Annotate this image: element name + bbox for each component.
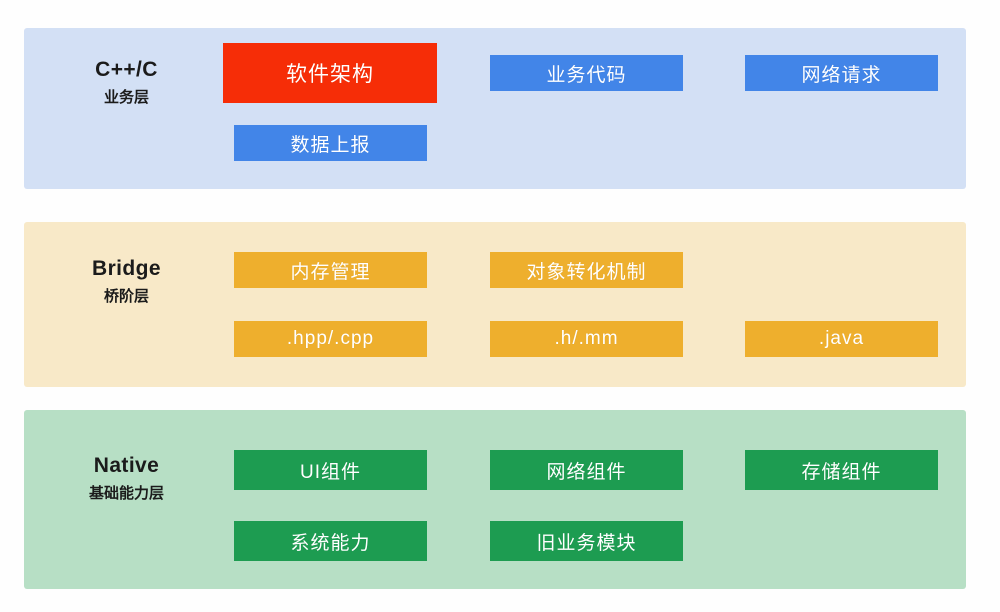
layer-band-native: Native 基础能力层 bbox=[24, 410, 966, 589]
layer-title-business: C++/C bbox=[24, 57, 229, 82]
node-h-mm[interactable]: .h/.mm bbox=[490, 321, 683, 357]
node-ui-component[interactable]: UI组件 bbox=[234, 450, 427, 490]
node-software-architecture[interactable]: 软件架构 bbox=[223, 43, 437, 103]
layer-label-business: C++/C 业务层 bbox=[24, 57, 229, 107]
layer-title-native: Native bbox=[24, 453, 229, 478]
node-business-code[interactable]: 业务代码 bbox=[490, 55, 683, 91]
node-label: 旧业务模块 bbox=[536, 528, 636, 555]
layer-label-bridge: Bridge 桥阶层 bbox=[24, 256, 229, 306]
node-label: .h/.mm bbox=[554, 328, 618, 350]
node-storage-component[interactable]: 存储组件 bbox=[745, 450, 938, 490]
node-label: 软件架构 bbox=[286, 58, 374, 88]
node-label: UI组件 bbox=[300, 457, 361, 484]
node-label: 业务代码 bbox=[546, 60, 626, 87]
node-label: 内存管理 bbox=[290, 257, 370, 284]
node-system-capability[interactable]: 系统能力 bbox=[234, 521, 427, 561]
layer-subtitle-bridge: 桥阶层 bbox=[24, 288, 229, 306]
node-label: 系统能力 bbox=[290, 528, 370, 555]
node-memory-management[interactable]: 内存管理 bbox=[234, 252, 427, 288]
node-java[interactable]: .java bbox=[745, 321, 938, 357]
node-label: 存储组件 bbox=[801, 457, 881, 484]
node-object-conversion[interactable]: 对象转化机制 bbox=[490, 252, 683, 288]
layer-subtitle-native: 基础能力层 bbox=[24, 485, 229, 503]
node-network-request[interactable]: 网络请求 bbox=[745, 55, 938, 91]
node-hpp-cpp[interactable]: .hpp/.cpp bbox=[234, 321, 427, 357]
node-network-component[interactable]: 网络组件 bbox=[490, 450, 683, 490]
node-label: .hpp/.cpp bbox=[287, 328, 374, 350]
layer-band-business: C++/C 业务层 bbox=[24, 28, 966, 189]
node-data-reporting[interactable]: 数据上报 bbox=[234, 125, 427, 161]
node-label: 网络请求 bbox=[801, 60, 881, 87]
layer-title-bridge: Bridge bbox=[24, 256, 229, 281]
layer-band-bridge: Bridge 桥阶层 bbox=[24, 222, 966, 387]
layer-label-native: Native 基础能力层 bbox=[24, 453, 229, 503]
architecture-diagram: C++/C 业务层 软件架构 业务代码 网络请求 数据上报 Bridge 桥阶层… bbox=[0, 0, 1000, 612]
layer-subtitle-business: 业务层 bbox=[24, 89, 229, 107]
node-label: 数据上报 bbox=[290, 130, 370, 157]
node-label: 网络组件 bbox=[546, 457, 626, 484]
node-label: 对象转化机制 bbox=[526, 257, 646, 284]
node-legacy-business-module[interactable]: 旧业务模块 bbox=[490, 521, 683, 561]
node-label: .java bbox=[819, 328, 864, 350]
